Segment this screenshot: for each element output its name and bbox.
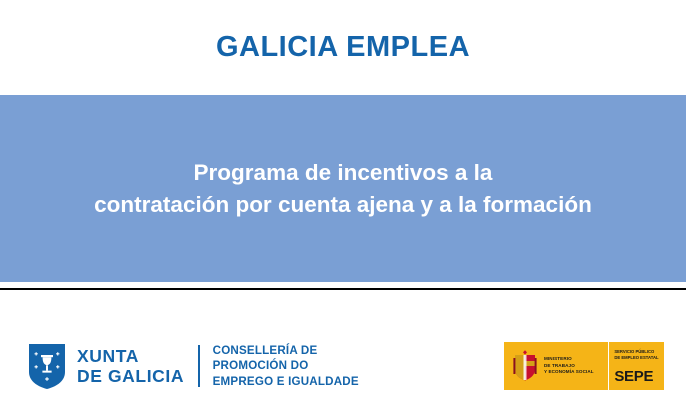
sepe-full-name: SERVICIO PÚBLICO DE EMPLEO ESTATAL bbox=[614, 349, 658, 362]
page-title: GALICIA EMPLEA bbox=[216, 33, 470, 62]
sepe-acronym: SEPE bbox=[614, 368, 653, 385]
sepe-block: SERVICIO PÚBLICO DE EMPLEO ESTATAL SEPE bbox=[608, 342, 664, 390]
program-subtitle: Programa de incentivos a la contratación… bbox=[76, 157, 610, 221]
ministerio-block: MINISTERIO DE TRABAJO Y ECONOMÍA SOCIAL bbox=[504, 342, 608, 390]
xunta-shield-icon bbox=[26, 342, 68, 390]
subtitle-band: Programa de incentivos a la contratación… bbox=[0, 95, 686, 282]
conselleria-name: CONSELLERÍA DE PROMOCIÓN DO EMPREGO E IG… bbox=[213, 343, 359, 390]
footer: XUNTA DE GALICIA CONSELLERÍA DE PROMOCIÓ… bbox=[0, 290, 686, 410]
logo-separator bbox=[198, 345, 200, 387]
spain-coat-of-arms-icon bbox=[511, 349, 539, 383]
ministerio-sepe-logo: MINISTERIO DE TRABAJO Y ECONOMÍA SOCIAL … bbox=[504, 342, 664, 390]
title-band: GALICIA EMPLEA bbox=[0, 0, 686, 95]
poster-root: GALICIA EMPLEA Programa de incentivos a … bbox=[0, 0, 686, 410]
ministerio-name: MINISTERIO DE TRABAJO Y ECONOMÍA SOCIAL bbox=[544, 356, 594, 376]
xunta-name: XUNTA DE GALICIA bbox=[77, 346, 184, 387]
xunta-de-galicia-logo: XUNTA DE GALICIA CONSELLERÍA DE PROMOCIÓ… bbox=[26, 342, 359, 390]
